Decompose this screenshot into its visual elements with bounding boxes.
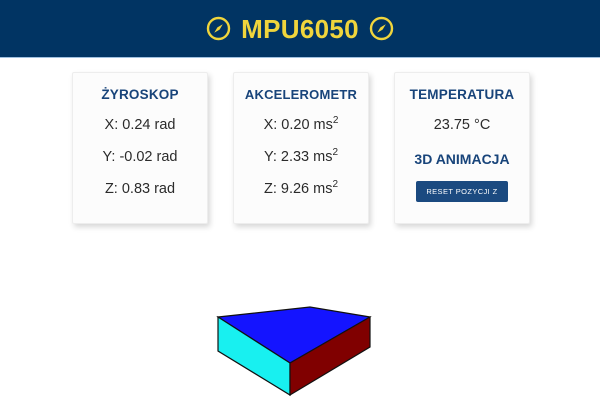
accelerometer-reading-z: Z: 9.26 ms2	[264, 181, 338, 197]
compass-icon	[206, 16, 231, 41]
accel-x-value: X: 0.20 ms	[264, 117, 333, 133]
accel-z-value: Z: 9.26 ms	[264, 181, 333, 197]
card-temperature: TEMPERATURA 23.75 °C 3D ANIMACJA RESET P…	[394, 72, 530, 224]
compass-icon	[369, 16, 394, 41]
gyroscope-reading-z: Z: 0.83 rad	[105, 181, 175, 197]
card-title-accelerometer: AKCELEROMETR	[245, 87, 357, 102]
temperature-value: 23.75 °C	[434, 117, 491, 133]
app-header: MPU6050	[0, 0, 600, 58]
animation-viewport[interactable]	[0, 255, 600, 403]
header-title-group: MPU6050	[206, 16, 394, 42]
accel-x-exponent: 2	[333, 115, 339, 126]
accel-y-value: Y: 2.33 ms	[264, 149, 333, 165]
sensor-cards-row: ŻYROSKOP X: 0.24 rad Y: -0.02 rad Z: 0.8…	[72, 72, 530, 224]
gyroscope-reading-x: X: 0.24 rad	[105, 117, 176, 133]
reset-z-position-button[interactable]: RESET POZYCJI Z	[416, 181, 507, 202]
card-gyroscope: ŻYROSKOP X: 0.24 rad Y: -0.02 rad Z: 0.8…	[72, 72, 208, 224]
accelerometer-reading-x: X: 0.20 ms2	[264, 117, 339, 133]
accel-y-exponent: 2	[332, 147, 338, 158]
accel-z-exponent: 2	[332, 179, 338, 190]
card-title-gyroscope: ŻYROSKOP	[101, 87, 178, 102]
card-accelerometer: AKCELEROMETR X: 0.20 ms2 Y: 2.33 ms2 Z: …	[233, 72, 369, 224]
3d-orientation-box[interactable]	[0, 255, 600, 403]
card-title-temperature: TEMPERATURA	[410, 87, 515, 102]
animation-section-label: 3D ANIMACJA	[414, 151, 509, 167]
accelerometer-reading-y: Y: 2.33 ms2	[264, 149, 338, 165]
page-title: MPU6050	[241, 16, 359, 42]
gyroscope-reading-y: Y: -0.02 rad	[103, 149, 178, 165]
